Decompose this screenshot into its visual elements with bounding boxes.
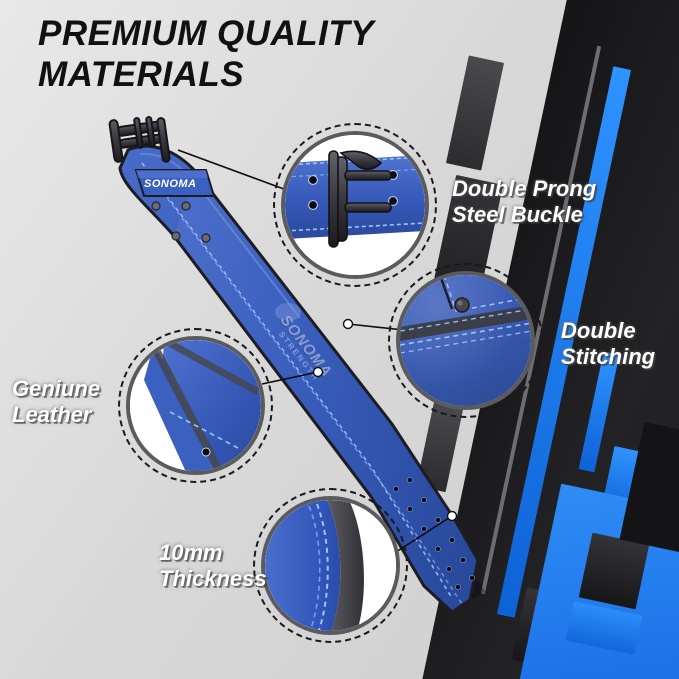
callout-label-buckle: Double Prong Steel Buckle — [452, 176, 596, 227]
leader-line-leather — [262, 372, 318, 384]
callout-label-leather-line-2: Leather — [12, 402, 100, 428]
thickness-detail-image — [265, 500, 396, 631]
infographic-canvas: PREMIUM QUALITY MATERIALS — [0, 0, 679, 679]
callout-label-buckle-line-1: Double Prong — [452, 176, 596, 202]
leader-dot-stitching — [344, 320, 353, 329]
callout-label-leather-line-1: Geniune — [12, 376, 100, 402]
callout-label-thickness: 10mm Thickness — [159, 540, 267, 591]
leather-detail-image — [130, 340, 261, 471]
leader-dot-thickness — [448, 512, 457, 521]
callout-label-thickness-line-1: 10mm — [159, 540, 267, 566]
leader-dot-leather — [314, 368, 323, 377]
callout-label-stitching-line-2: Stitching — [561, 344, 655, 370]
leader-line-buckle — [178, 150, 292, 192]
leader-line-thickness — [396, 516, 452, 552]
callout-label-buckle-line-2: Steel Buckle — [452, 202, 596, 228]
callout-circle-buckle — [281, 131, 429, 279]
callout-circle-thickness — [261, 496, 400, 635]
leader-line-stitching — [348, 324, 404, 330]
stitching-detail-image — [400, 275, 531, 406]
callout-circle-leather — [126, 336, 265, 475]
callout-circle-stitching — [396, 271, 535, 410]
callout-label-stitching: Double Stitching — [561, 318, 655, 369]
buckle-detail-image — [285, 135, 425, 275]
callout-label-thickness-line-2: Thickness — [159, 566, 267, 592]
callout-label-stitching-line-1: Double — [561, 318, 655, 344]
callout-label-leather: Geniune Leather — [12, 376, 100, 427]
